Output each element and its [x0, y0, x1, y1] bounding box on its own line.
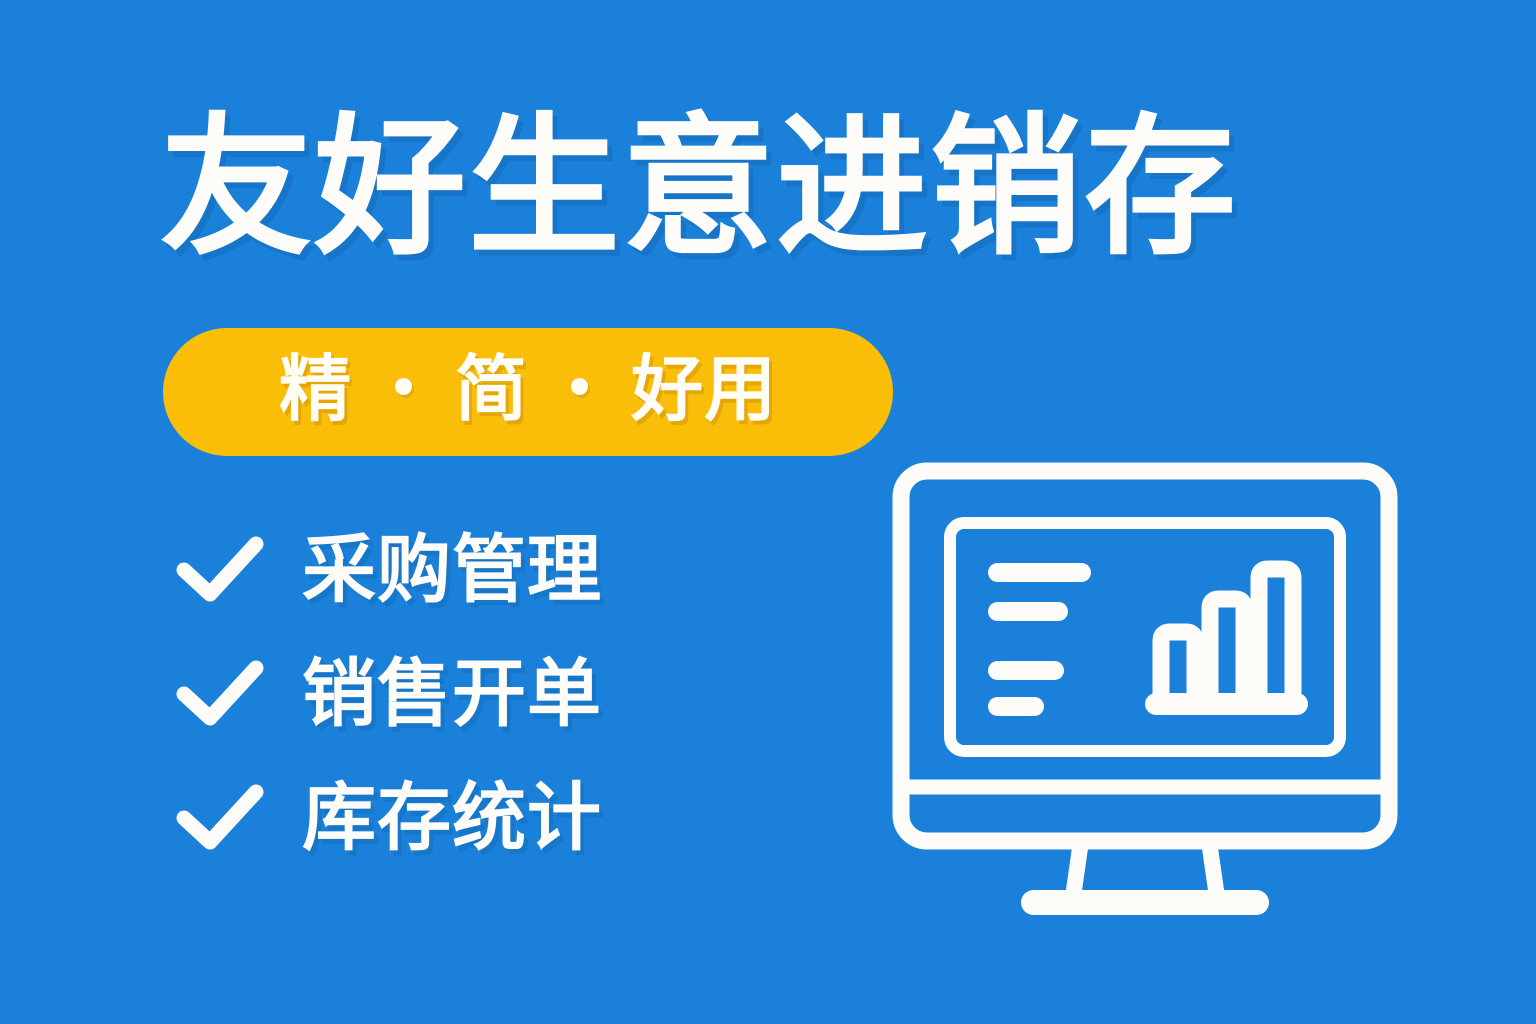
bar-1	[1161, 632, 1195, 700]
monitor-stand-base	[1021, 890, 1269, 915]
check-icon	[172, 530, 268, 610]
bar-2	[1210, 599, 1244, 700]
feature-label: 库存统计	[302, 781, 602, 855]
desktop-monitor-dashboard-icon	[880, 450, 1410, 930]
feature-label: 采购管理	[302, 533, 602, 607]
screen-text-line-2	[988, 602, 1068, 621]
feature-list: 采购管理 销售开单 库存统计	[172, 520, 602, 892]
check-icon	[172, 778, 268, 858]
screen-text-line-1	[988, 563, 1091, 582]
screen-bar-chart	[1145, 569, 1308, 715]
page-title: 友好生意进销存	[160, 112, 1340, 264]
list-item: 销售开单	[172, 644, 602, 744]
feature-label: 销售开单	[302, 657, 602, 731]
check-icon	[172, 654, 268, 734]
tagline-word-2: 简	[455, 350, 528, 430]
tagline-word-3: 好用	[631, 350, 777, 430]
tagline-separator-dot-1	[395, 378, 412, 395]
chart-baseline	[1145, 693, 1308, 715]
screen-text-line-3	[988, 661, 1064, 680]
tagline-word-1: 精	[279, 350, 352, 430]
tagline-separator-dot-2	[571, 378, 588, 395]
tagline-text: 精 简 好用	[279, 354, 777, 430]
list-item: 采购管理	[172, 520, 602, 620]
screen-text-line-4	[988, 697, 1044, 716]
poster-canvas: 友好生意进销存 精 简 好用 采购管理 销售开单	[0, 0, 1536, 1024]
list-item: 库存统计	[172, 768, 602, 868]
tagline-badge: 精 简 好用	[163, 328, 893, 456]
monitor-screen-frame	[950, 523, 1340, 751]
bar-3	[1259, 569, 1293, 700]
